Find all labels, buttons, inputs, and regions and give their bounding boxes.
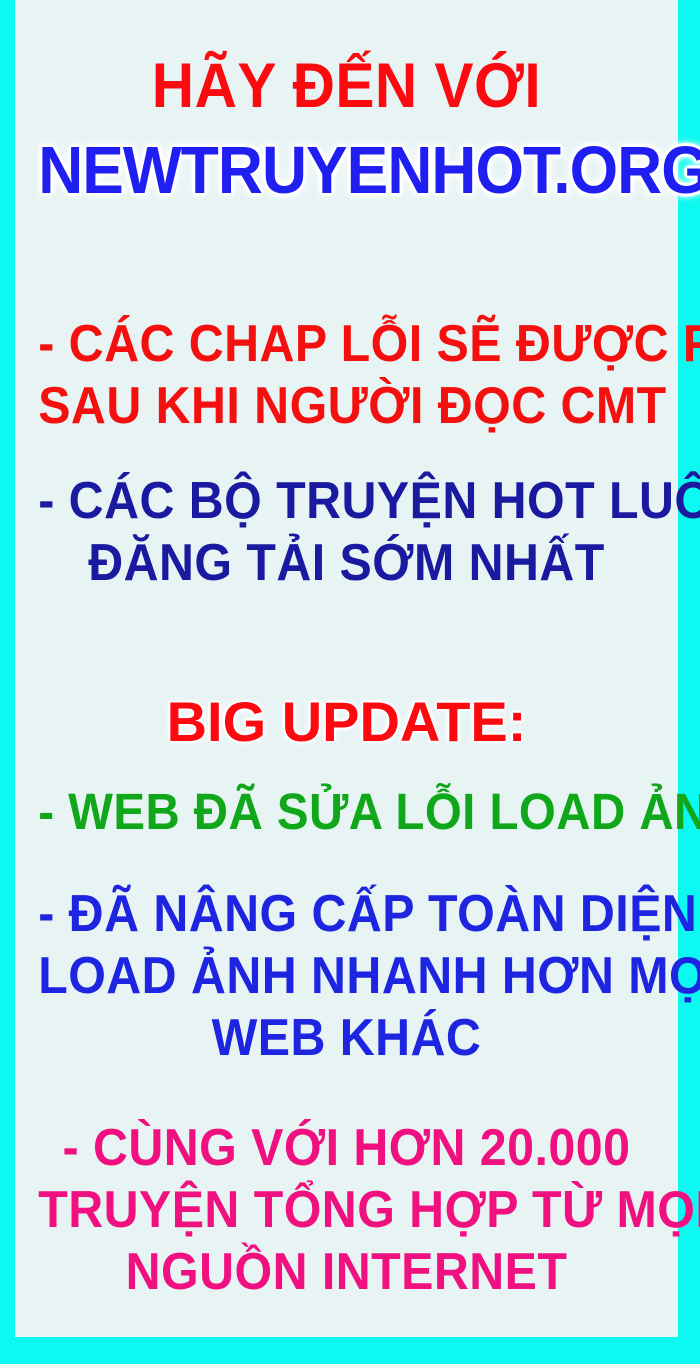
full-upgrade-line-3: WEB KHÁC [38, 1012, 655, 1064]
full-upgrade-line-2: LOAD ẢNH NHANH HƠN MỌI [38, 950, 655, 1002]
hot-series-notice-line-2: ĐĂNG TẢI SỚM NHẤT [38, 537, 655, 589]
bottom-edge-strip [0, 1364, 700, 1368]
library-size-line-3: NGUỒN INTERNET [38, 1246, 655, 1298]
promo-banner: HÃY ĐẾN VỚI NEWTRUYENHOT.ORG - CÁC CHAP … [0, 0, 700, 1368]
site-url-text[interactable]: NEWTRUYENHOT.ORG [38, 137, 655, 204]
image-load-fix-block: - WEB ĐÃ SỬA LỖI LOAD ẢNH [15, 786, 678, 837]
full-upgrade-block: - ĐÃ NÂNG CẤP TOÀN DIỆN LOAD ẢNH NHANH H… [15, 888, 678, 1064]
fix-notice-block: - CÁC CHAP LỖI SẼ ĐƯỢC FIX SAU KHI NGƯỜI… [15, 318, 678, 432]
banner-content: HÃY ĐẾN VỚI NEWTRUYENHOT.ORG - CÁC CHAP … [15, 0, 678, 1337]
image-load-fix-line-1: - WEB ĐÃ SỬA LỖI LOAD ẢNH [38, 786, 655, 837]
big-update-heading: BIG UPDATE: [15, 694, 678, 750]
full-upgrade-line-1: - ĐÃ NÂNG CẤP TOÀN DIỆN [38, 888, 655, 940]
library-size-line-1: - CÙNG VỚI HƠN 20.000 [38, 1122, 655, 1174]
library-size-block: - CÙNG VỚI HƠN 20.000 TRUYỆN TỔNG HỢP TỪ… [15, 1122, 678, 1298]
fix-notice-line-2: SAU KHI NGƯỜI ĐỌC CMT [38, 380, 655, 432]
headline-text: HÃY ĐẾN VỚI [38, 55, 655, 118]
fix-notice-line-1: - CÁC CHAP LỖI SẼ ĐƯỢC FIX [38, 318, 655, 370]
library-size-line-2: TRUYỆN TỔNG HỢP TỪ MỌI [38, 1184, 655, 1236]
hot-series-notice-block: - CÁC BỘ TRUYỆN HOT LUÔN ĐĂNG TẢI SỚM NH… [15, 475, 678, 589]
hot-series-notice-line-1: - CÁC BỘ TRUYỆN HOT LUÔN [38, 475, 655, 527]
